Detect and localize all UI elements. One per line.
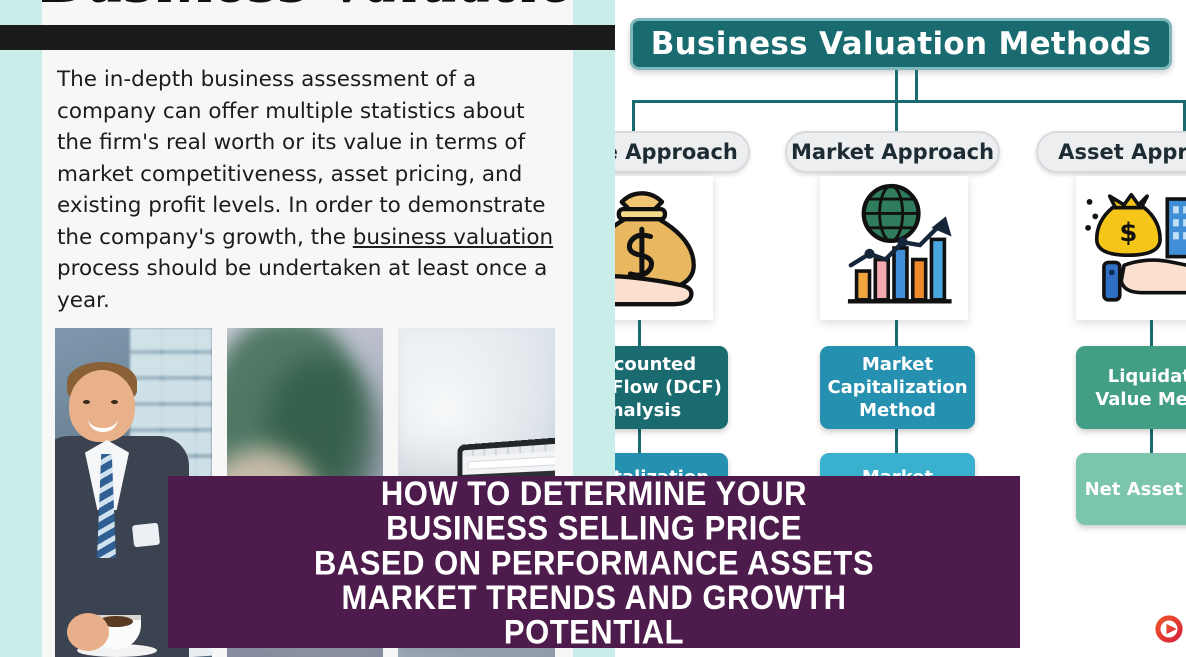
approach-market: Market Approach [785, 131, 1000, 173]
article-body-paragraph: The in-depth business assessment of a co… [57, 64, 557, 316]
article-body-text-end: process should be undertaken at least on… [57, 256, 547, 313]
money-bag-buildings-in-hand-icon: $ [1076, 176, 1186, 320]
method-net-asset-value: Net Asset Value [1076, 453, 1186, 525]
diagram-title-node: Business Valuation Methods [630, 18, 1172, 70]
circular-play-logo[interactable] [1152, 612, 1186, 646]
headline-banner: HOW TO DETERMINE YOUR BUSINESS SELLING P… [168, 476, 1020, 648]
headline-line-4: MARKET TRENDS AND GROWTH [314, 579, 874, 614]
approach-income: Income Approach [615, 131, 750, 173]
business-valuation-link[interactable]: business valuation [353, 225, 553, 250]
headline-line-5: POTENTIAL [314, 614, 874, 649]
headline-line-3: BASED ON PERFORMANCE ASSETS [314, 545, 874, 580]
money-bag-in-hand-icon [615, 176, 713, 320]
article-script-title: Business Valuation [42, 0, 573, 24]
income-approach-icon-card [615, 176, 713, 320]
screenshot-stage: Business Valuation The in-depth business… [0, 0, 1186, 657]
headline-line-1: HOW TO DETERMINE YOUR [314, 475, 874, 510]
headline-banner-text: HOW TO DETERMINE YOUR BUSINESS SELLING P… [314, 475, 874, 649]
svg-text:$: $ [1119, 218, 1137, 248]
article-body-text-start: The in-depth business assessment of a co… [57, 67, 546, 250]
header-divider-bar [0, 25, 615, 50]
method-dcf-analysis: Discounted Cash Flow (DCF) Analysis [615, 346, 728, 429]
method-market-capitalization: Market Capitalization Method [820, 346, 975, 429]
asset-approach-icon-card: $ [1076, 176, 1186, 320]
headline-line-2: BUSINESS SELLING PRICE [314, 510, 874, 545]
globe-and-bar-chart-icon [820, 176, 968, 320]
approach-asset: Asset Approach [1036, 131, 1186, 173]
method-liquidation-value: Liquidation Value Method [1076, 346, 1186, 429]
market-approach-icon-card [820, 176, 968, 320]
circular-play-logo-icon [1152, 612, 1186, 646]
